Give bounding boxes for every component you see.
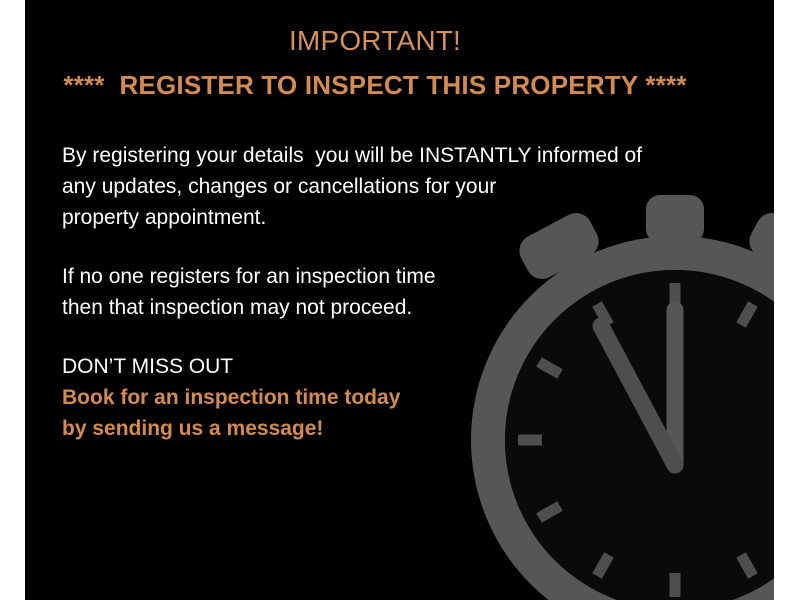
headline-register: **** REGISTER TO INSPECT THIS PROPERTY *… bbox=[25, 68, 725, 102]
paragraph-line: property appointment. bbox=[62, 202, 722, 233]
paragraph-registering-benefits: By registering your details you will be … bbox=[62, 140, 722, 233]
paragraph-line: any updates, changes or cancellations fo… bbox=[62, 171, 722, 202]
poster-headings: IMPORTANT! **** REGISTER TO INSPECT THIS… bbox=[25, 24, 725, 102]
left-margin-strip bbox=[0, 0, 25, 600]
headline-important: IMPORTANT! bbox=[25, 24, 725, 58]
paragraph-no-registration-warning: If no one registers for an inspection ti… bbox=[62, 261, 722, 323]
cta-book-inspection: Book for an inspection time today bbox=[62, 382, 722, 413]
promotional-poster: IMPORTANT! **** REGISTER TO INSPECT THIS… bbox=[0, 0, 800, 600]
call-to-action: DON’T MISS OUT Book for an inspection ti… bbox=[62, 351, 722, 444]
paragraph-line: If no one registers for an inspection ti… bbox=[62, 261, 722, 292]
poster-canvas: IMPORTANT! **** REGISTER TO INSPECT THIS… bbox=[25, 0, 774, 600]
paragraph-line: then that inspection may not proceed. bbox=[62, 292, 722, 323]
cta-send-message: by sending us a message! bbox=[62, 413, 722, 444]
poster-body: By registering your details you will be … bbox=[62, 140, 722, 444]
right-margin-strip bbox=[774, 0, 800, 600]
paragraph-line: By registering your details you will be … bbox=[62, 140, 722, 171]
cta-dont-miss-out: DON’T MISS OUT bbox=[62, 351, 722, 382]
